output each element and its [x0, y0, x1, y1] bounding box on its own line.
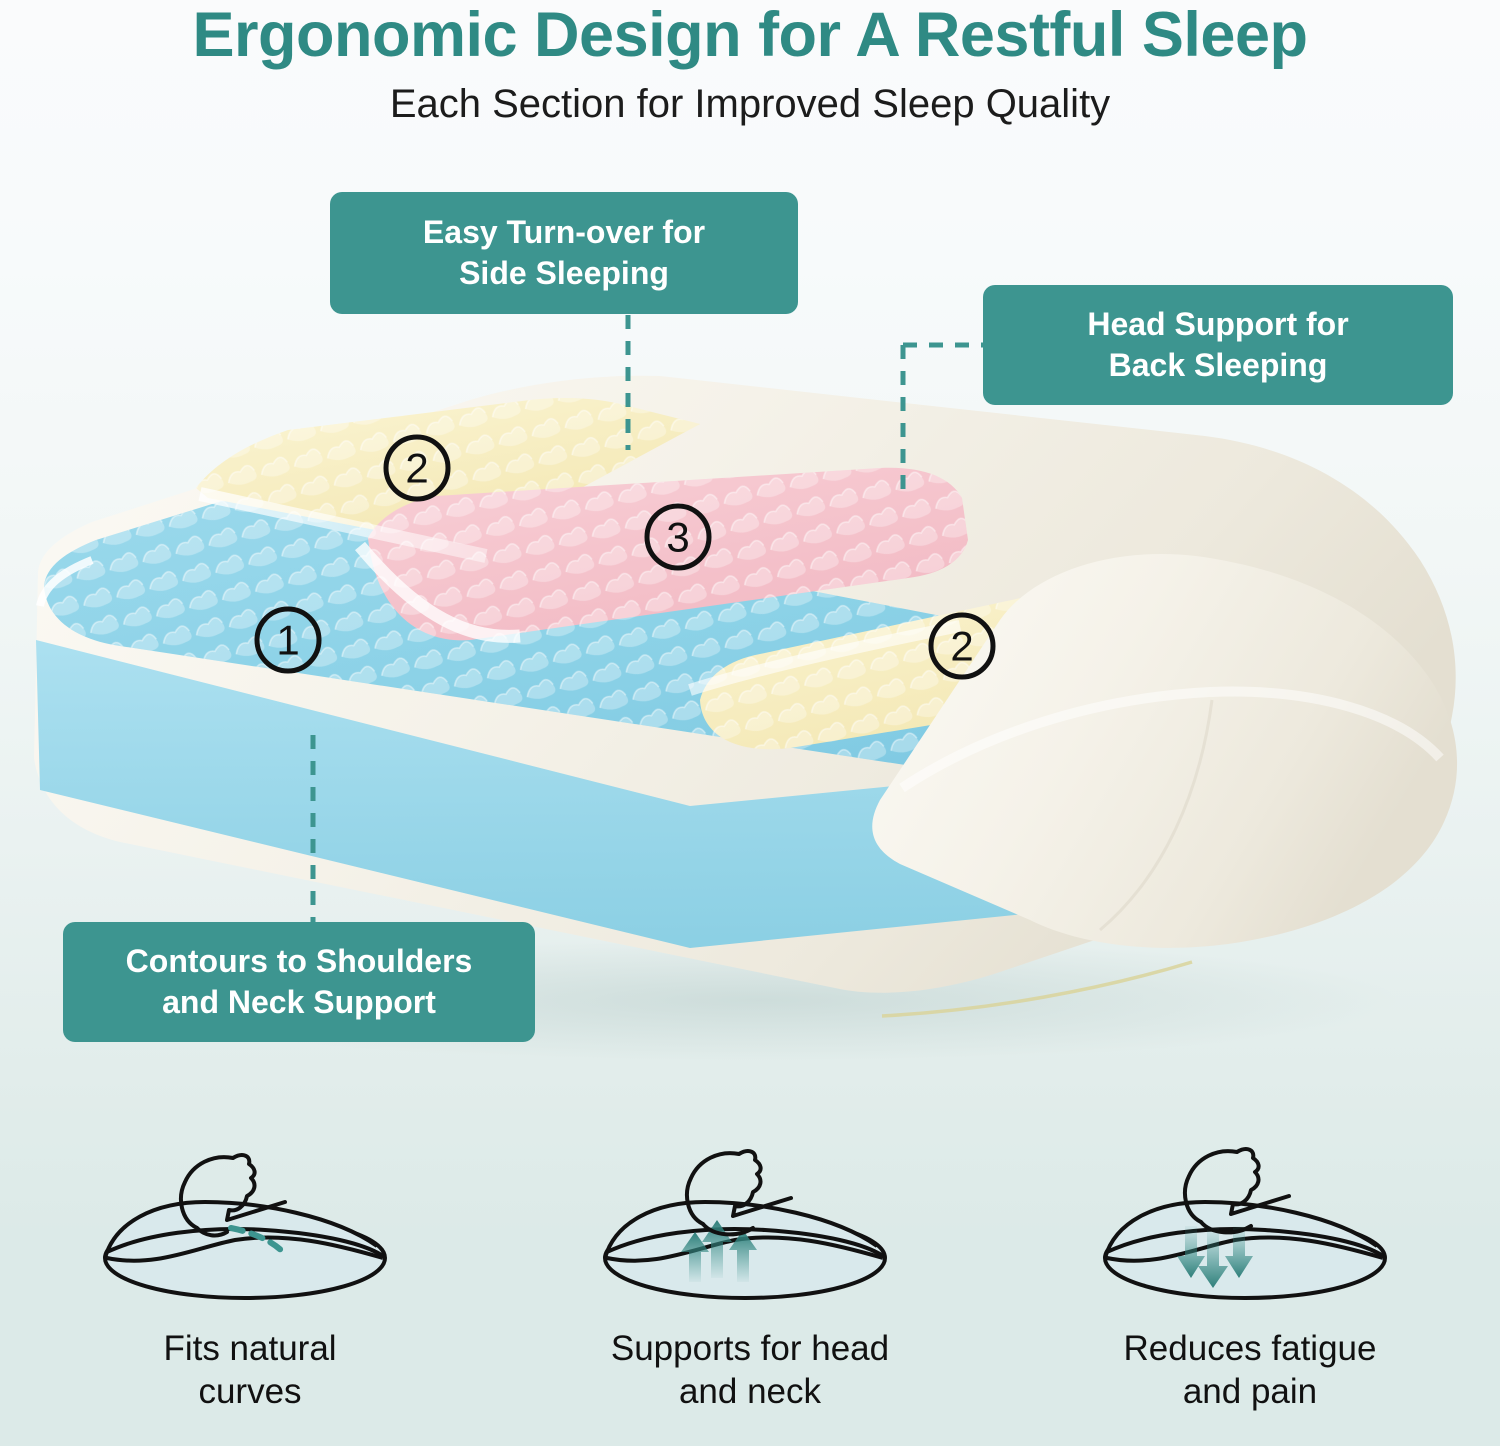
marker-label: 2 — [950, 623, 973, 670]
pillow-zone-2-yellow-right — [700, 564, 1256, 749]
feature-supports-head-neck: Supports for head and neck — [530, 1140, 970, 1413]
pillow-head-down-arrows-icon — [1085, 1140, 1415, 1310]
pillow-marker-3: 3 — [647, 506, 709, 568]
feature-caption: Reduces fatigue and pain — [1124, 1328, 1377, 1413]
caption-line-1: Reduces fatigue — [1124, 1329, 1377, 1368]
caption-line-2: and neck — [679, 1372, 821, 1411]
caption-line-1: Supports for head — [611, 1329, 889, 1368]
pillow-foam-body — [34, 376, 1456, 993]
marker-label: 1 — [276, 617, 299, 664]
marker-label: 2 — [405, 445, 428, 492]
callout-contours-shoulders: Contours to Shoulders and Neck Support — [63, 922, 535, 1042]
zone-seam — [360, 546, 520, 636]
pillow-contour-bolster — [872, 554, 1457, 1016]
caption-line-2: curves — [198, 1372, 301, 1411]
header: Ergonomic Design for A Restful Sleep Eac… — [0, 0, 1500, 126]
foam-edge-highlight — [40, 560, 92, 606]
pillow-marker-2-right: 2 — [931, 615, 993, 677]
feature-caption: Supports for head and neck — [611, 1328, 889, 1413]
pillow-marker-2-left: 2 — [386, 437, 448, 499]
pillow-zone-3-pink — [368, 468, 968, 641]
page-subtitle: Each Section for Improved Sleep Quality — [0, 68, 1500, 126]
callout-line-1: Contours to Shoulders — [126, 943, 473, 979]
pillow-head-up-arrows-icon — [585, 1140, 915, 1310]
page-title: Ergonomic Design for A Restful Sleep — [0, 0, 1500, 68]
feature-caption: Fits natural curves — [163, 1328, 336, 1413]
zone-seam — [200, 494, 486, 556]
feature-reduces-fatigue-pain: Reduces fatigue and pain — [1030, 1140, 1470, 1413]
zone-seam — [690, 626, 960, 690]
pillow-zone-blue-side — [36, 640, 1162, 948]
pillow-marker-1: 1 — [257, 609, 319, 671]
feature-row: Fits natural curves — [0, 1140, 1500, 1413]
pillow-zone-1-blue — [44, 486, 1210, 800]
callout-line-1: Easy Turn-over for — [423, 214, 705, 250]
pillow-zone-2-yellow-left — [196, 398, 700, 548]
callout-head-support: Head Support for Back Sleeping — [983, 285, 1453, 405]
caption-line-2: and pain — [1183, 1372, 1317, 1411]
callout-line-2: Side Sleeping — [459, 255, 669, 291]
callout-line-2: Back Sleeping — [1109, 347, 1328, 383]
callout-line-1: Head Support for — [1087, 306, 1348, 342]
pillow-head-contour-icon — [85, 1140, 415, 1310]
callout-easy-turnover: Easy Turn-over for Side Sleeping — [330, 192, 798, 314]
marker-label: 3 — [666, 514, 689, 561]
feature-fits-natural-curves: Fits natural curves — [30, 1140, 470, 1413]
caption-line-1: Fits natural — [163, 1329, 336, 1368]
callout-line-2: and Neck Support — [162, 984, 436, 1020]
